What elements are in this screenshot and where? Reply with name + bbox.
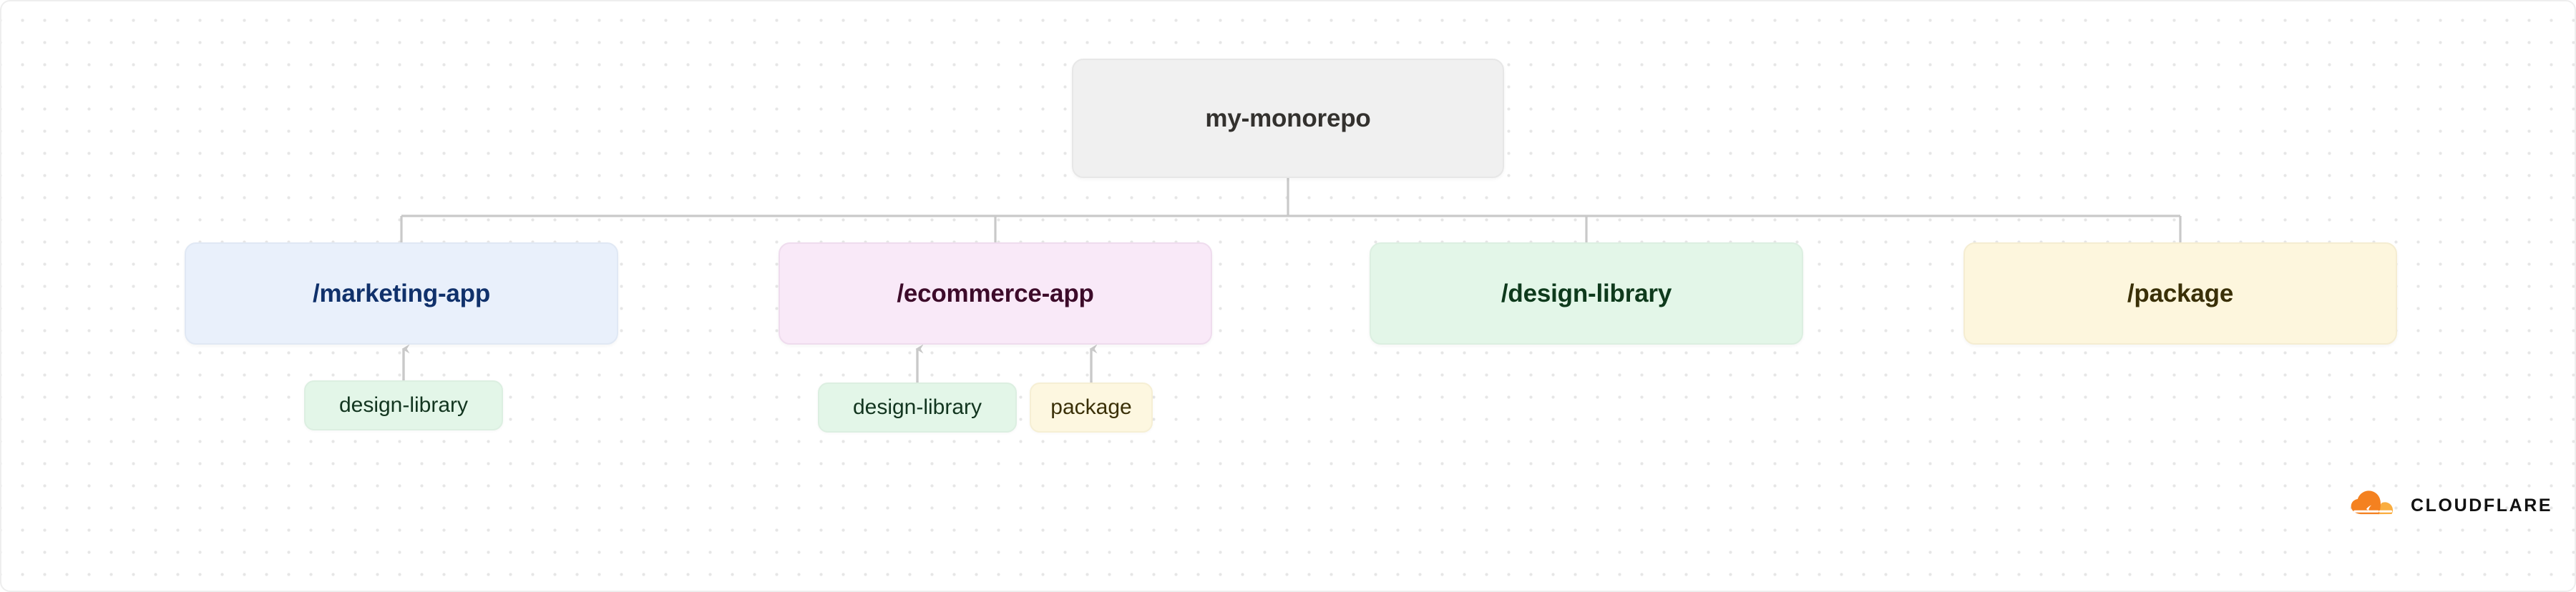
node-package[interactable]: /package bbox=[1963, 242, 2397, 345]
cloudflare-cloud-icon bbox=[2349, 490, 2401, 521]
node-marketing-app[interactable]: /marketing-app bbox=[185, 242, 618, 345]
cloudflare-logo: CLOUDFLARE bbox=[2349, 490, 2552, 521]
node-design-library[interactable]: /design-library bbox=[1370, 242, 1803, 345]
node-my-monorepo[interactable]: my-monorepo bbox=[1072, 59, 1504, 178]
node-label: /package bbox=[2127, 280, 2233, 308]
dependency-chip-ecommerce-package[interactable]: package bbox=[1030, 383, 1153, 433]
node-ecommerce-app[interactable]: /ecommerce-app bbox=[779, 242, 1212, 345]
diagram-canvas[interactable]: my-monorepo /marketing-app /ecommerce-ap… bbox=[0, 0, 2576, 592]
node-label: /design-library bbox=[1501, 280, 1672, 308]
dependency-chip-label: package bbox=[1050, 395, 1131, 420]
dependency-chip-label: design-library bbox=[853, 395, 982, 420]
cloudflare-wordmark: CLOUDFLARE bbox=[2411, 495, 2552, 516]
node-label: /marketing-app bbox=[313, 280, 490, 308]
dependency-chip-marketing-design-library[interactable]: design-library bbox=[304, 380, 503, 430]
dependency-chip-label: design-library bbox=[339, 393, 468, 418]
dependency-chip-ecommerce-design-library[interactable]: design-library bbox=[818, 383, 1017, 433]
node-label: my-monorepo bbox=[1205, 104, 1370, 133]
node-label: /ecommerce-app bbox=[897, 280, 1093, 308]
